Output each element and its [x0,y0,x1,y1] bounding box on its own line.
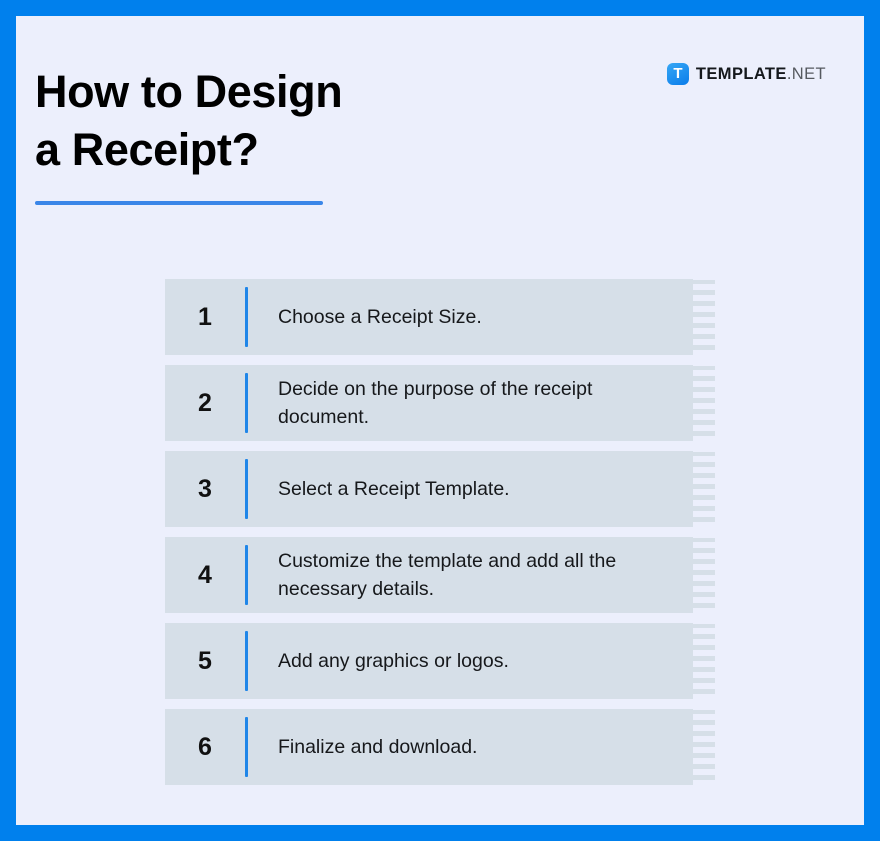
step-number: 6 [165,709,245,785]
list-item: 5 Add any graphics or logos. [165,623,715,699]
step-number: 1 [165,279,245,355]
list-item: 1 Choose a Receipt Size. [165,279,715,355]
brand-logo: T TEMPLATE.NET [667,63,826,85]
step-number: 2 [165,365,245,441]
step-text: Decide on the purpose of the receipt doc… [248,365,715,441]
title-underline-rule [35,201,323,205]
step-text: Select a Receipt Template. [248,451,715,527]
template-net-logo-icon: T [667,63,689,85]
step-text: Customize the template and add all the n… [248,537,715,613]
list-item: 3 Select a Receipt Template. [165,451,715,527]
step-number: 3 [165,451,245,527]
page-title: How to Design a Receipt? [35,63,342,179]
step-number: 4 [165,537,245,613]
list-item: 6 Finalize and download. [165,709,715,785]
brand-name-suffix: .NET [787,65,826,83]
step-text: Finalize and download. [248,709,715,785]
step-text: Add any graphics or logos. [248,623,715,699]
list-item: 4 Customize the template and add all the… [165,537,715,613]
steps-list: 1 Choose a Receipt Size. 2 Decide on the… [165,279,715,785]
brand-name-main: TEMPLATE [696,65,787,83]
list-item: 2 Decide on the purpose of the receipt d… [165,365,715,441]
step-number: 5 [165,623,245,699]
step-text: Choose a Receipt Size. [248,279,715,355]
poster-canvas: T TEMPLATE.NET How to Design a Receipt? … [16,16,864,825]
brand-name: TEMPLATE.NET [696,65,826,84]
